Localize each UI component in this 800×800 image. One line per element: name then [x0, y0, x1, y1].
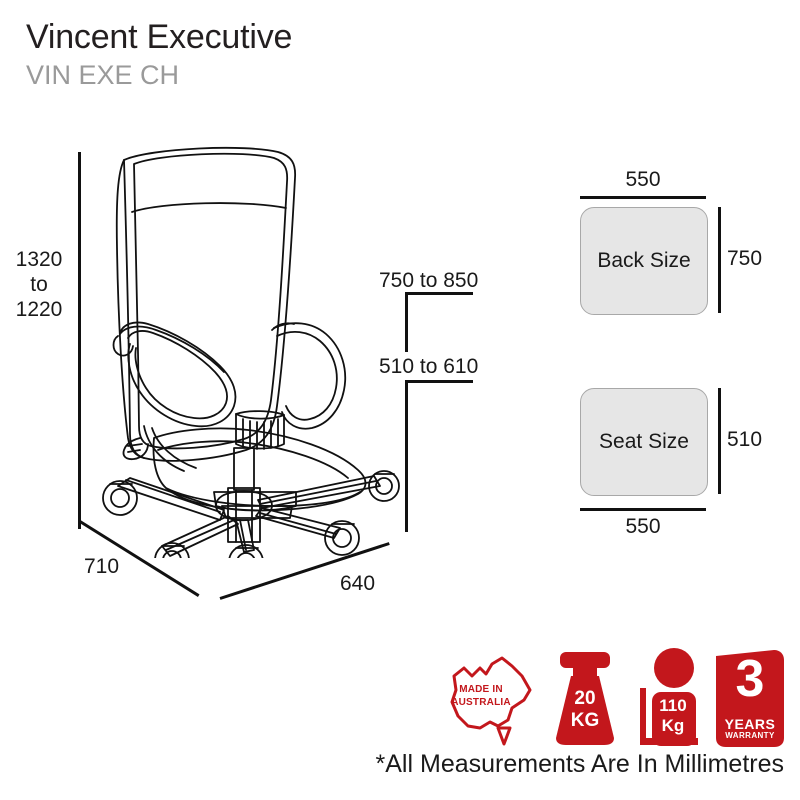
seat-height-leader-vertical	[405, 380, 408, 532]
chair-illustration	[96, 138, 406, 558]
overall-height-dimension-line	[78, 152, 81, 529]
header: Vincent Executive VIN EXE CH	[26, 18, 292, 91]
made-in-line-2: AUSTRALIA	[446, 697, 516, 710]
seat-size-box: Seat Size	[580, 388, 708, 496]
seat-size-width-line	[580, 508, 706, 511]
person-seated-icon	[632, 646, 708, 750]
back-height-leader-vertical	[405, 292, 408, 352]
weight-icon	[544, 646, 626, 750]
back-size-box-label: Back Size	[597, 249, 690, 273]
seat-height-leader-horizontal	[405, 380, 473, 383]
spec-sheet-page: Vincent Executive VIN EXE CH 1320 to 122…	[0, 0, 800, 800]
badge-row: MADE IN AUSTRALIA 20 KG 11	[446, 646, 792, 750]
seat-size-height-line	[718, 388, 721, 494]
seat-size-height-label: 510	[727, 428, 762, 453]
warranty-tag-icon	[710, 646, 790, 750]
made-in-line-1: MADE IN	[446, 684, 516, 697]
badge-made-in-australia: MADE IN AUSTRALIA	[446, 646, 538, 750]
width-label: 640	[340, 572, 375, 597]
back-size-width-line	[580, 196, 706, 199]
overall-height-line-2: to	[8, 273, 70, 298]
footer-note: *All Measurements Are In Millimetres	[376, 750, 784, 779]
page-title: Vincent Executive	[26, 18, 292, 57]
chair-line-drawing	[96, 138, 406, 558]
seat-size-width-label: 550	[580, 515, 706, 540]
badge-weight-capacity: 110 Kg	[632, 646, 708, 750]
back-size-width-label: 550	[580, 168, 706, 193]
seat-size-box-label: Seat Size	[599, 430, 689, 454]
product-code: VIN EXE CH	[26, 59, 292, 91]
depth-label: 710	[84, 555, 119, 580]
badge-warranty: 3 YEARS WARRANTY	[710, 646, 790, 750]
seat-height-label: 510 to 610	[379, 355, 478, 380]
back-height-label: 750 to 850	[379, 269, 478, 294]
back-size-height-label: 750	[727, 247, 762, 272]
overall-height-line-1: 1320	[8, 248, 70, 273]
overall-height-line-3: 1220	[8, 298, 70, 323]
made-in-australia-text: MADE IN AUSTRALIA	[446, 684, 516, 709]
badge-chair-weight: 20 KG	[544, 646, 626, 750]
back-size-height-line	[718, 207, 721, 313]
overall-height-label: 1320 to 1220	[8, 248, 70, 322]
back-size-box: Back Size	[580, 207, 708, 315]
